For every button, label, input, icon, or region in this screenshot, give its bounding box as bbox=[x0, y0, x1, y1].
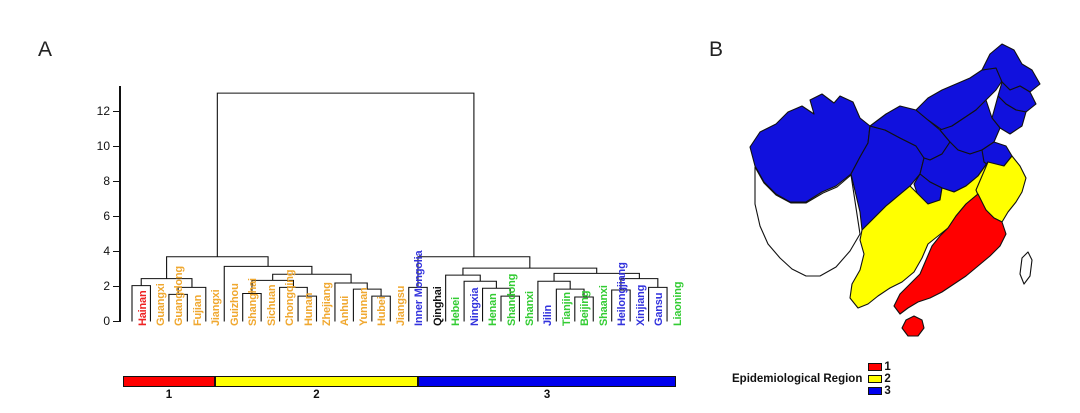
leaf-label-henan: Henan bbox=[487, 293, 499, 326]
leaf-label-hebei: Hebei bbox=[450, 297, 462, 326]
map-province-hainan bbox=[902, 316, 924, 336]
legend-item-2: 2 bbox=[868, 373, 890, 385]
legend-key-1 bbox=[868, 363, 882, 371]
leaf-label-fujian: Fujian bbox=[192, 294, 204, 325]
legend-label-1: 1 bbox=[884, 361, 890, 373]
leaf-label-hubei: Hubei bbox=[376, 296, 388, 326]
leaf-label-liaoning: Liaoning bbox=[672, 281, 684, 325]
leaf-label-qinghai: Qinghai bbox=[432, 286, 444, 326]
leaf-label-hainan: Hainan bbox=[137, 290, 149, 325]
leaf-label-shanxi: Shanxi bbox=[524, 291, 536, 326]
leaf-label-shandong: Shandong bbox=[506, 273, 518, 325]
leaf-label-guizhou: Guizhou bbox=[229, 283, 241, 326]
region-band-1 bbox=[123, 376, 215, 387]
leaf-label-sichuan: Sichuan bbox=[266, 284, 278, 325]
region-band-2 bbox=[215, 376, 418, 387]
legend-items: 123 bbox=[868, 361, 890, 397]
leaf-label-beijing: Beijing bbox=[579, 290, 591, 325]
legend-title: Epidemiological Region bbox=[732, 373, 862, 385]
leaf-label-guangxi: Guangxi bbox=[155, 283, 167, 326]
leaf-label-gansu: Gansu bbox=[653, 292, 665, 325]
leaf-label-chongqing: Chongqing bbox=[284, 269, 296, 325]
leaf-label-anhui: Anhui bbox=[339, 295, 351, 325]
leaf-label-shaanxi: Shaanxi bbox=[598, 285, 610, 326]
dendrogram-link bbox=[463, 268, 597, 275]
legend-label-2: 2 bbox=[884, 373, 890, 385]
leaf-label-xinjiang: Xinjiang bbox=[635, 284, 647, 325]
leaf-label-jiangsu: Jiangsu bbox=[395, 285, 407, 325]
leaf-label-tianjin: Tianjin bbox=[561, 292, 573, 326]
panel-a-dendrogram: A Epidemiological distance 024681012 Hai… bbox=[0, 0, 700, 413]
leaf-label-yunnan: Yunnan bbox=[358, 287, 370, 326]
leaf-label-heilongjiang: Heilongjiang bbox=[616, 262, 628, 326]
legend-item-1: 1 bbox=[868, 361, 890, 373]
map-legend: Epidemiological Region 123 bbox=[732, 361, 891, 397]
dendrogram-link bbox=[217, 93, 474, 257]
leaf-label-zhejiang: Zhejiang bbox=[321, 282, 333, 326]
leaf-label-jilin: Jilin bbox=[542, 304, 554, 325]
leaf-label-guangdong: Guangdong bbox=[173, 266, 185, 326]
leaf-label-shanghai: Shanghai bbox=[247, 278, 259, 326]
panel-b-map: B bbox=[700, 0, 1080, 413]
legend-label-3: 3 bbox=[884, 385, 890, 397]
region-band-label-2: 2 bbox=[215, 389, 418, 401]
leaf-label-hunan: Hunan bbox=[303, 292, 315, 325]
region-band-3 bbox=[418, 376, 676, 387]
leaf-label-ningxia: Ningxia bbox=[469, 287, 481, 325]
dendrogram-tree bbox=[0, 0, 700, 413]
figure-root: A Epidemiological distance 024681012 Hai… bbox=[0, 0, 1080, 413]
legend-key-2 bbox=[868, 375, 882, 383]
leaf-label-inner-mongolia: Inner Mongolia bbox=[413, 250, 425, 325]
legend-key-3 bbox=[868, 387, 882, 395]
legend-item-3: 3 bbox=[868, 385, 890, 397]
map-province-taiwan bbox=[1020, 252, 1032, 284]
china-choropleth-map bbox=[710, 26, 1070, 356]
leaf-label-jiangxi: Jiangxi bbox=[210, 289, 222, 326]
region-band-label-1: 1 bbox=[123, 389, 215, 401]
region-band-label-3: 3 bbox=[418, 389, 676, 401]
